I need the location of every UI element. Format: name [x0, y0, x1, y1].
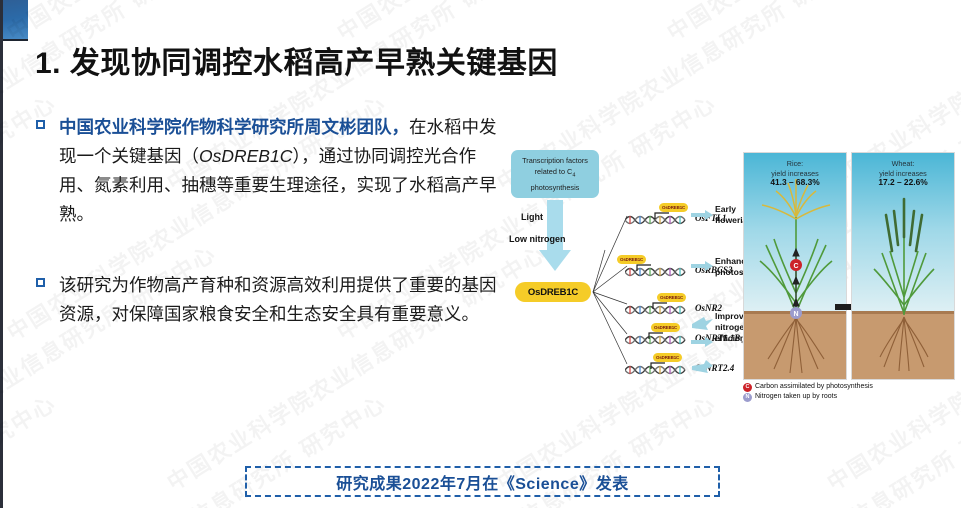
carbon-dot-icon: C — [743, 383, 752, 392]
legend-nitrogen-text: Nitrogen taken up by roots — [755, 392, 837, 402]
dna-helix-icon — [625, 332, 691, 348]
gene-tag: OsDREB1C — [651, 323, 680, 332]
wheat-crop-label: Wheat: — [892, 159, 915, 168]
list-item: 该研究为作物高产育种和资源高效利用提供了重要的基因资源，对保障国家粮食安全和生态… — [36, 271, 506, 329]
bullet-text-1: 中国农业科学院作物科学研究所周文彬团队，在水稻中发现一个关键基因（OsDREB1… — [59, 113, 506, 229]
bullet-body-2: 该研究为作物高产育种和资源高效利用提供了重要的基因资源，对保障国家粮食安全和生态… — [59, 275, 497, 324]
dna-helix-icon — [625, 362, 691, 378]
wheat-panel: Wheat: yield increases 17.2 – 22.6% — [851, 152, 955, 380]
wheat-caption: Wheat: yield increases 17.2 – 22.6% — [852, 159, 954, 188]
legend-carbon-text: Carbon assimilated by photosynthesis — [755, 382, 873, 392]
result-banner: 研究成果2022年7月在《Science》发表 — [245, 466, 720, 497]
legend-item-carbon: C Carbon assimilated by photosynthesis — [743, 382, 873, 392]
page-title: 1. 发现协同调控水稻高产早熟关键基因 — [35, 38, 558, 82]
mechanism-figure: Transcription factors related to C4 phot… — [505, 138, 955, 400]
list-item: 中国农业科学院作物科学研究所周文彬团队，在水稻中发现一个关键基因（OsDREB1… — [36, 113, 506, 229]
figure-legend: C Carbon assimilated by photosynthesis N… — [743, 382, 873, 402]
bullet-square-icon — [36, 278, 45, 287]
svg-text:C: C — [793, 263, 798, 270]
left-edge-stripe — [0, 0, 3, 508]
svg-text:N: N — [793, 311, 798, 318]
legend-item-nitrogen: N Nitrogen taken up by roots — [743, 392, 873, 402]
rice-panel: C N Rice: yield increases 41.3 – 68.3% — [743, 152, 847, 380]
gene-tag: OsDREB1C — [653, 353, 682, 362]
rice-caption: Rice: yield increases 41.3 – 68.3% — [744, 159, 846, 188]
dna-helix-icon — [625, 302, 691, 318]
result-banner-text: 研究成果2022年7月在《Science》发表 — [336, 470, 628, 494]
bullet-square-icon — [36, 120, 45, 129]
dna-helix-icon — [625, 212, 691, 228]
rice-crop-label: Rice: — [787, 159, 803, 168]
slide: 中国农业科学院农业信息研究所 研究中心中国农业科学院农业信息研究所 研究中心中国… — [0, 0, 961, 508]
bullet-lead-1: 中国农业科学院作物科学研究所周文彬团队， — [59, 117, 409, 137]
wheat-value: 17.2 – 22.6% — [878, 177, 927, 187]
outcome-1-line1: Early — [715, 204, 736, 214]
nitrogen-dot-icon: N — [743, 393, 752, 402]
dna-helix-icon — [625, 264, 691, 280]
bullet-text-2: 该研究为作物高产育种和资源高效利用提供了重要的基因资源，对保障国家粮食安全和生态… — [59, 271, 506, 329]
gene-tag: OsDREB1C — [617, 255, 646, 264]
corner-accent-block — [3, 0, 28, 41]
gene-name-inline: OsDREB1C — [199, 146, 292, 166]
gene-tag: OsDREB1C — [657, 293, 686, 302]
gene-tag: OsDREB1C — [659, 203, 688, 212]
bullet-list: 中国农业科学院作物科学研究所周文彬团队，在水稻中发现一个关键基因（OsDREB1… — [36, 113, 506, 349]
rice-value: 41.3 – 68.3% — [770, 177, 819, 187]
